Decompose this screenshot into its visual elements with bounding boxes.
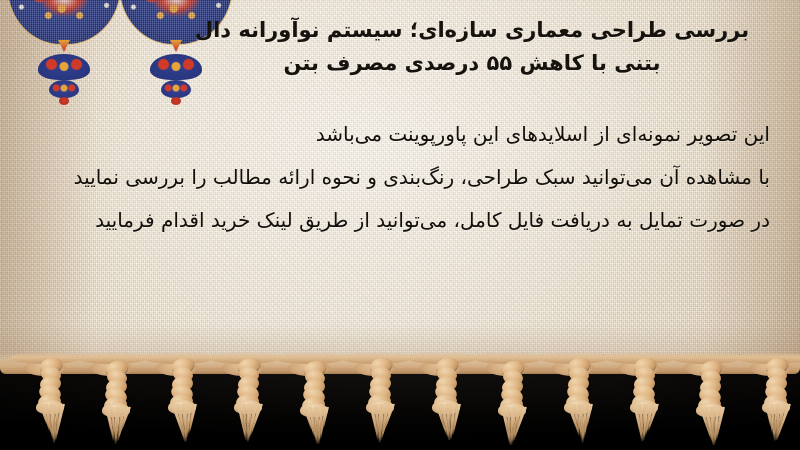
fringe-strands — [496, 407, 530, 449]
fringe-strands — [364, 404, 398, 446]
fringe-tassel — [622, 356, 678, 448]
fringe-tassel — [688, 359, 744, 450]
fringe-strands — [760, 404, 794, 446]
fringe-tassel — [160, 356, 216, 448]
fringe-strands — [166, 404, 200, 446]
fringe-tassel — [358, 356, 414, 448]
fringe-tassel — [424, 356, 480, 448]
fringe-tassel — [490, 359, 546, 450]
slide-body-text: این تصویر نمونه‌ای از اسلایدهای این پاور… — [28, 113, 770, 242]
fringe-strands — [430, 404, 464, 446]
fringe-strands — [298, 407, 332, 449]
fringe-tassel — [754, 356, 800, 448]
fringe-strands — [562, 404, 596, 446]
fringe-tassel — [556, 356, 612, 448]
fringe-strands — [34, 404, 68, 446]
fringe-tassel — [226, 356, 282, 448]
fringe-tassel — [292, 359, 348, 450]
fringe-tassel — [28, 356, 84, 448]
body-line-1: این تصویر نمونه‌ای از اسلایدهای این پاور… — [28, 113, 770, 156]
body-line-3: در صورت تمایل به دریافت فایل کامل، می‌تو… — [28, 199, 770, 242]
body-line-2: با مشاهده آن می‌توانید سبک طراحی، رنگ‌بن… — [28, 156, 770, 199]
fringe-strands — [100, 407, 134, 449]
fringe-strands — [694, 407, 728, 449]
fringe-strands — [628, 404, 662, 446]
fringe-strands — [232, 404, 266, 446]
title-line-2: بتنی با کاهش ۵۵ درصدی مصرف بتن — [162, 47, 782, 80]
slide-canvas: بررسی طراحی معماری سازه‌ای؛ سیستم نوآورا… — [0, 0, 800, 450]
title-line-1: بررسی طراحی معماری سازه‌ای؛ سیستم نوآورا… — [162, 14, 782, 47]
slide-title: بررسی طراحی معماری سازه‌ای؛ سیستم نوآورا… — [162, 14, 782, 80]
fringe-tassel — [94, 359, 150, 450]
